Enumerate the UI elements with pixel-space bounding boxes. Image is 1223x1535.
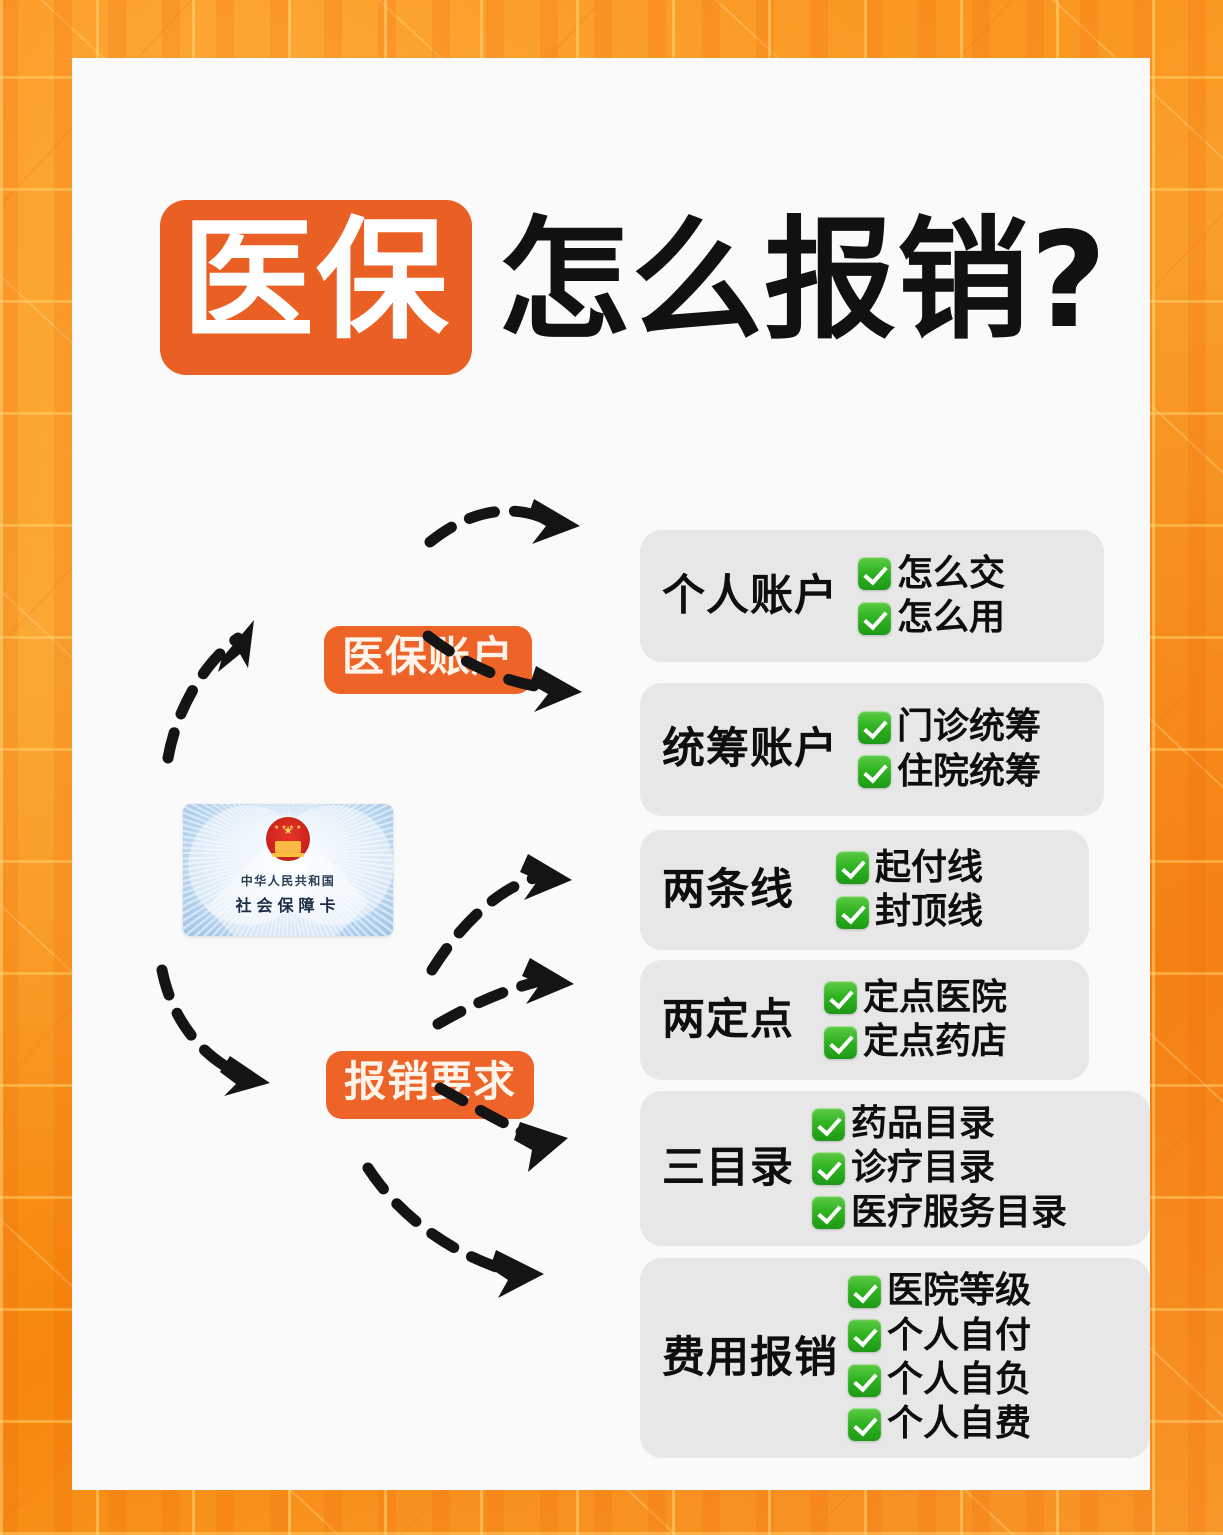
poster-background: 医保 怎么报销? ★ ★★★★ 中华人民共和国 社会保障卡 医保账户 报销要求 … (0, 0, 1223, 1535)
info-block-three-catalogs: 三目录 药品目录 诊疗目录 医疗服务目录 (640, 1091, 1150, 1246)
block-item-list: 起付线 封顶线 (836, 848, 983, 933)
block-title: 两定点 (662, 999, 794, 1042)
check-icon (858, 711, 891, 744)
list-item-label: 门诊统筹 (897, 707, 1041, 747)
check-icon (836, 896, 869, 929)
arrow-requirements-to-two-lines (432, 854, 572, 970)
info-block-personal-account: 个人账户 怎么交 怎么用 (640, 530, 1104, 662)
arrow-card-to-medical-account (168, 620, 254, 758)
info-block-cost-reimbursement: 费用报销 医院等级 个人自付 个人自负 个人自费 (640, 1258, 1150, 1458)
block-title: 两条线 (662, 869, 794, 912)
list-item: 个人自费 (848, 1404, 1031, 1444)
title-badge-yibao: 医保 (160, 200, 472, 375)
list-item-label: 怎么交 (897, 554, 1005, 594)
arrow-account-to-personal (430, 499, 580, 544)
block-item-list: 药品目录 诊疗目录 医疗服务目录 (812, 1104, 1067, 1233)
list-item: 怎么交 (858, 554, 1005, 594)
block-title: 个人账户 (662, 575, 838, 618)
list-item-label: 个人自费 (887, 1404, 1031, 1444)
list-item: 门诊统筹 (858, 707, 1041, 747)
block-item-list: 怎么交 怎么用 (858, 554, 1005, 639)
list-item-label: 住院统筹 (897, 752, 1041, 792)
social-security-card-image: ★ ★★★★ 中华人民共和国 社会保障卡 (183, 804, 393, 936)
page-title: 医保 怎么报销? (160, 200, 1108, 375)
list-item-label: 个人自付 (887, 1316, 1031, 1356)
list-item: 诊疗目录 (812, 1148, 1067, 1188)
list-item-label: 封顶线 (875, 892, 983, 932)
category-pill-reimbursement-requirements: 报销要求 (326, 1051, 534, 1119)
card-title-line: 社会保障卡 (183, 892, 393, 916)
check-icon (812, 1108, 845, 1141)
arrow-requirements-to-cost-reimbursement (368, 1168, 544, 1298)
check-icon (848, 1408, 881, 1441)
national-emblem-icon: ★ ★★★★ (266, 817, 310, 861)
title-rest-text: 怎么报销? (498, 215, 1108, 359)
list-item: 医疗服务目录 (812, 1193, 1067, 1233)
poster-white-card: 医保 怎么报销? ★ ★★★★ 中华人民共和国 社会保障卡 医保账户 报销要求 … (72, 58, 1150, 1490)
list-item-label: 定点药店 (863, 1022, 1007, 1062)
list-item-label: 定点医院 (863, 978, 1007, 1018)
check-icon (812, 1152, 845, 1185)
list-item: 怎么用 (858, 598, 1005, 638)
arrow-card-to-reimburse-requirements (162, 970, 270, 1096)
list-item-label: 医疗服务目录 (851, 1193, 1067, 1233)
info-block-two-lines: 两条线 起付线 封顶线 (640, 830, 1089, 950)
info-block-two-designated-points: 两定点 定点医院 定点药店 (640, 960, 1089, 1080)
check-icon (848, 1319, 881, 1352)
list-item: 封顶线 (836, 892, 983, 932)
check-icon (858, 755, 891, 788)
check-icon (824, 981, 857, 1014)
block-item-list: 门诊统筹 住院统筹 (858, 707, 1041, 792)
emblem-small-stars-icon: ★★★★ (274, 824, 302, 831)
info-block-pooled-account: 统筹账户 门诊统筹 住院统筹 (640, 683, 1104, 816)
check-icon (858, 602, 891, 635)
list-item-label: 医院等级 (887, 1271, 1031, 1311)
block-title: 费用报销 (662, 1337, 838, 1380)
check-icon (848, 1275, 881, 1308)
emblem-base-icon (272, 853, 304, 857)
card-country-line: 中华人民共和国 (183, 872, 393, 889)
list-item: 药品目录 (812, 1104, 1067, 1144)
list-item-label: 个人自负 (887, 1360, 1031, 1400)
check-icon (848, 1364, 881, 1397)
category-pill-medical-account: 医保账户 (324, 626, 532, 694)
list-item: 住院统筹 (858, 752, 1041, 792)
block-item-list: 医院等级 个人自付 个人自负 个人自费 (848, 1271, 1031, 1444)
list-item: 起付线 (836, 848, 983, 888)
block-item-list: 定点医院 定点药店 (824, 978, 1007, 1063)
list-item-label: 起付线 (875, 848, 983, 888)
list-item: 个人自负 (848, 1360, 1031, 1400)
arrow-requirements-to-two-points (438, 958, 574, 1024)
list-item: 定点医院 (824, 978, 1007, 1018)
list-item: 个人自付 (848, 1316, 1031, 1356)
list-item-label: 怎么用 (897, 598, 1005, 638)
list-item: 定点药店 (824, 1022, 1007, 1062)
list-item-label: 药品目录 (851, 1104, 995, 1144)
block-title: 三目录 (662, 1147, 794, 1190)
list-item-label: 诊疗目录 (851, 1148, 995, 1188)
list-item: 医院等级 (848, 1271, 1031, 1311)
check-icon (858, 557, 891, 590)
check-icon (824, 1026, 857, 1059)
emblem-gate-icon (275, 841, 301, 853)
check-icon (836, 851, 869, 884)
check-icon (812, 1196, 845, 1229)
block-title: 统筹账户 (662, 728, 838, 771)
